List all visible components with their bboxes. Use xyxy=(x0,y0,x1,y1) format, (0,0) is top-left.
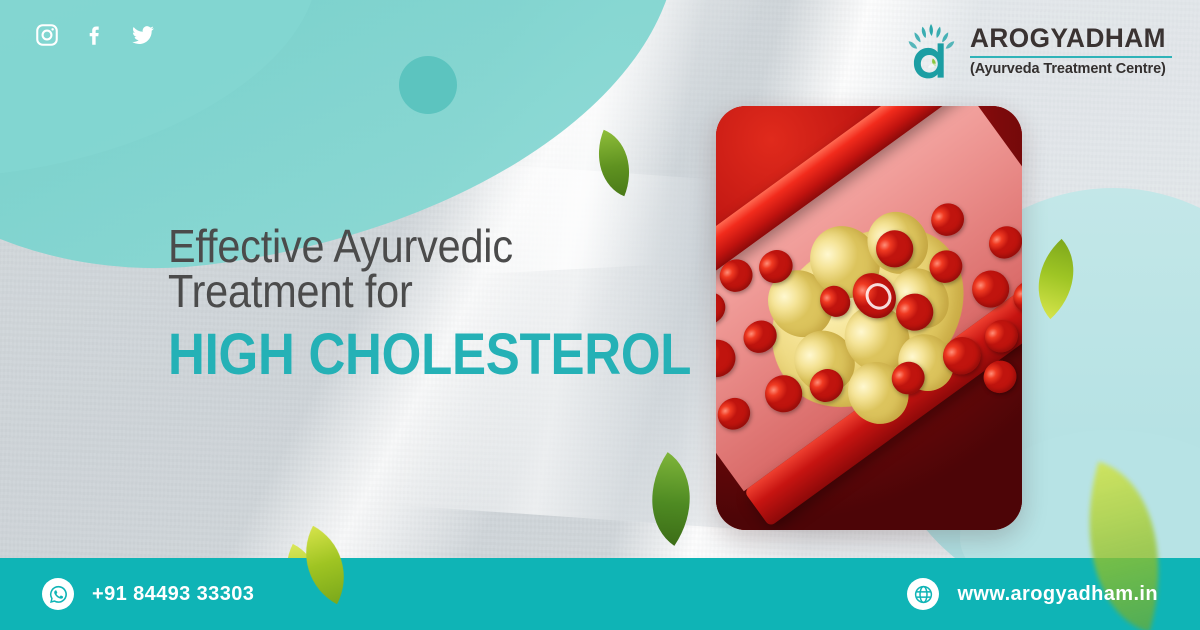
brand-name: AROGYADHAM xyxy=(970,25,1166,52)
footer-bar: +91 84493 33303 www.arogyadham.in xyxy=(0,558,1200,630)
globe-icon xyxy=(907,578,939,610)
footer-phone-text: +91 84493 33303 xyxy=(92,583,254,606)
headline-line-1: Effective Ayurvedic xyxy=(168,224,636,269)
headline-block: Effective Ayurvedic Treatment for HIGH C… xyxy=(168,224,688,384)
decor-circle-teal xyxy=(399,56,457,114)
brand-logo[interactable]: AROGYADHAM (Ayurveda Treatment Centre) xyxy=(904,20,1172,82)
social-links xyxy=(34,22,156,48)
footer-phone[interactable]: +91 84493 33303 xyxy=(42,578,254,610)
banner-canvas: AROGYADHAM (Ayurveda Treatment Centre) E… xyxy=(0,0,1200,630)
instagram-icon[interactable] xyxy=(34,22,60,48)
whatsapp-icon xyxy=(42,578,74,610)
brand-tagline: (Ayurveda Treatment Centre) xyxy=(970,62,1172,78)
facebook-icon[interactable] xyxy=(82,22,108,48)
headline-line-2: Treatment for xyxy=(168,269,636,314)
artery-plaque-illustration xyxy=(716,106,1022,530)
footer-website[interactable]: www.arogyadham.in xyxy=(907,578,1158,610)
brand-divider xyxy=(970,56,1172,58)
headline-accent: HIGH CHOLESTEROL xyxy=(168,326,626,384)
footer-website-text: www.arogyadham.in xyxy=(957,583,1158,606)
twitter-icon[interactable] xyxy=(130,22,156,48)
blood-vessel-group xyxy=(716,106,1022,530)
leafy-letter-a-icon xyxy=(904,20,960,82)
